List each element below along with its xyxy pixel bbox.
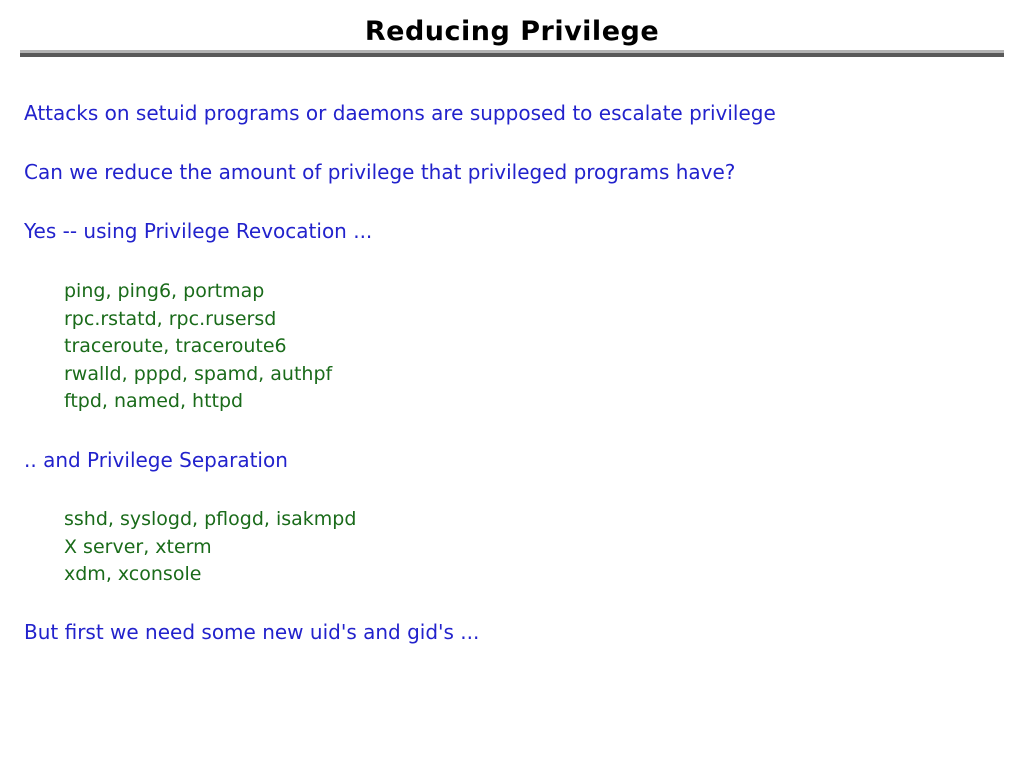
list-item: sshd, syslogd, pflogd, isakmpd [64, 506, 356, 534]
list-item: ftpd, named, httpd [64, 388, 332, 416]
list-item: traceroute, traceroute6 [64, 333, 332, 361]
presentation-slide: Reducing Privilege Attacks on setuid pro… [0, 0, 1024, 768]
statement-question: Can we reduce the amount of privilege th… [24, 160, 735, 184]
revocation-program-list: ping, ping6, portmap rpc.rstatd, rpc.rus… [64, 278, 332, 416]
statement-answer-revocation: Yes -- using Privilege Revocation ... [24, 219, 372, 243]
list-item: rwalld, pppd, spamd, authpf [64, 361, 332, 389]
list-item: xdm, xconsole [64, 561, 356, 589]
list-item: ping, ping6, portmap [64, 278, 332, 306]
list-item: rpc.rstatd, rpc.rusersd [64, 306, 332, 334]
title-divider-rule [20, 50, 1004, 57]
statement-answer-separation: .. and Privilege Separation [24, 448, 288, 472]
slide-title: Reducing Privilege [0, 16, 1024, 48]
separation-program-list: sshd, syslogd, pflogd, isakmpd X server,… [64, 506, 356, 589]
statement-closing: But first we need some new uid's and gid… [24, 620, 479, 644]
list-item: X server, xterm [64, 534, 356, 562]
statement-attacks: Attacks on setuid programs or daemons ar… [24, 101, 776, 125]
